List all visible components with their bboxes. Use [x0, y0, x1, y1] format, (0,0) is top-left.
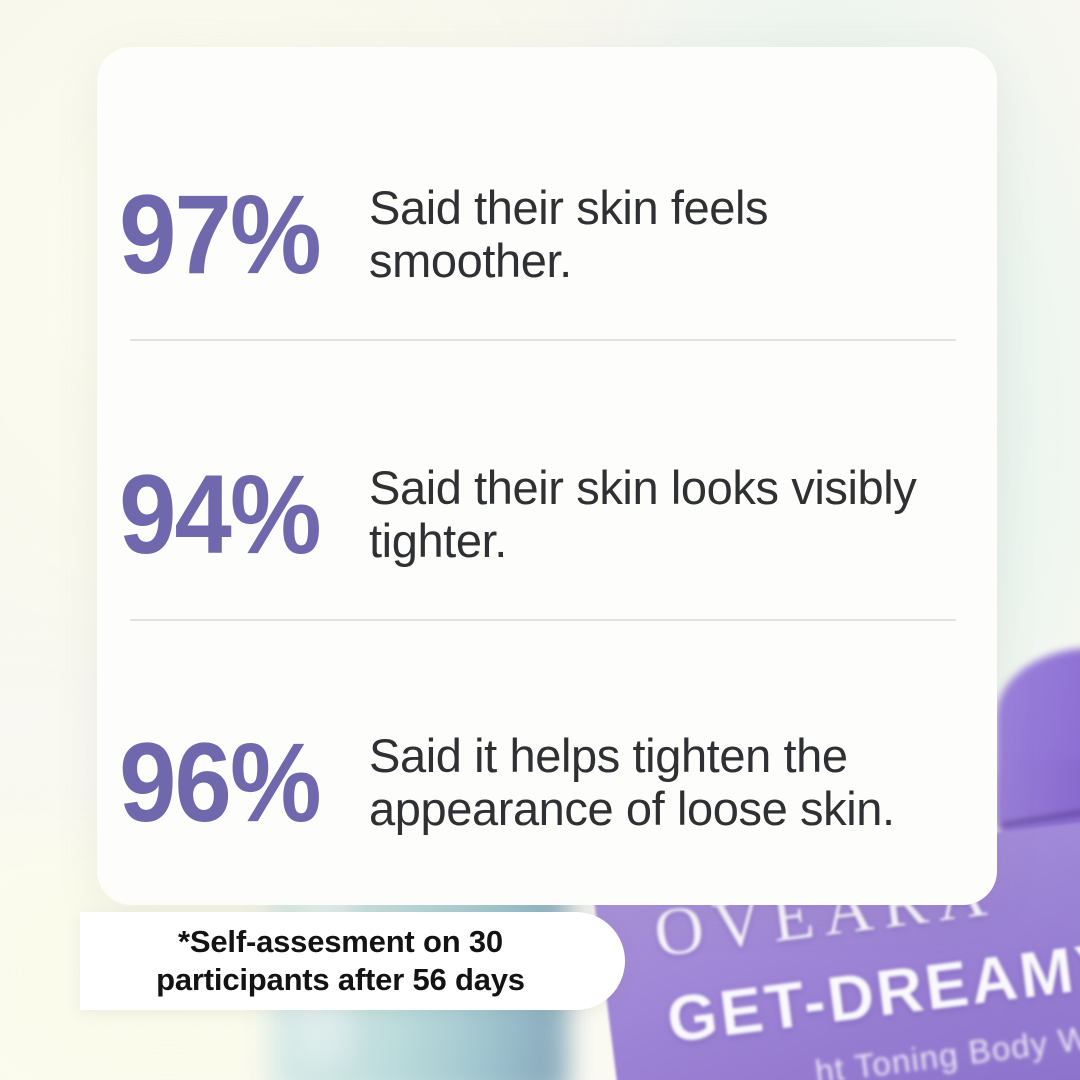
footnote-badge: *Self-assesment on 30 participants after…	[80, 912, 625, 1010]
statistic-row: 97% Said their skin feels smoother.	[97, 155, 997, 315]
statistic-percentage: 94%	[97, 459, 347, 571]
statistics-list: 97% Said their skin feels smoother. 94% …	[97, 47, 997, 905]
footnote-text: *Self-assesment on 30 participants after…	[146, 923, 559, 999]
statistic-description: Said their skin looks visibly tighter.	[369, 462, 997, 567]
divider	[130, 619, 956, 621]
divider	[130, 339, 956, 341]
statistic-row: 96% Said it helps tighten the appearance…	[97, 677, 997, 889]
results-card: 97% Said their skin feels smoother. 94% …	[97, 47, 997, 905]
statistic-row: 94% Said their skin looks visibly tighte…	[97, 435, 997, 595]
statistic-description: Said their skin feels smoother.	[369, 182, 997, 287]
statistic-description: Said it helps tighten the appearance of …	[369, 730, 997, 835]
statistic-percentage: 96%	[97, 727, 347, 839]
statistic-percentage: 97%	[97, 179, 347, 291]
